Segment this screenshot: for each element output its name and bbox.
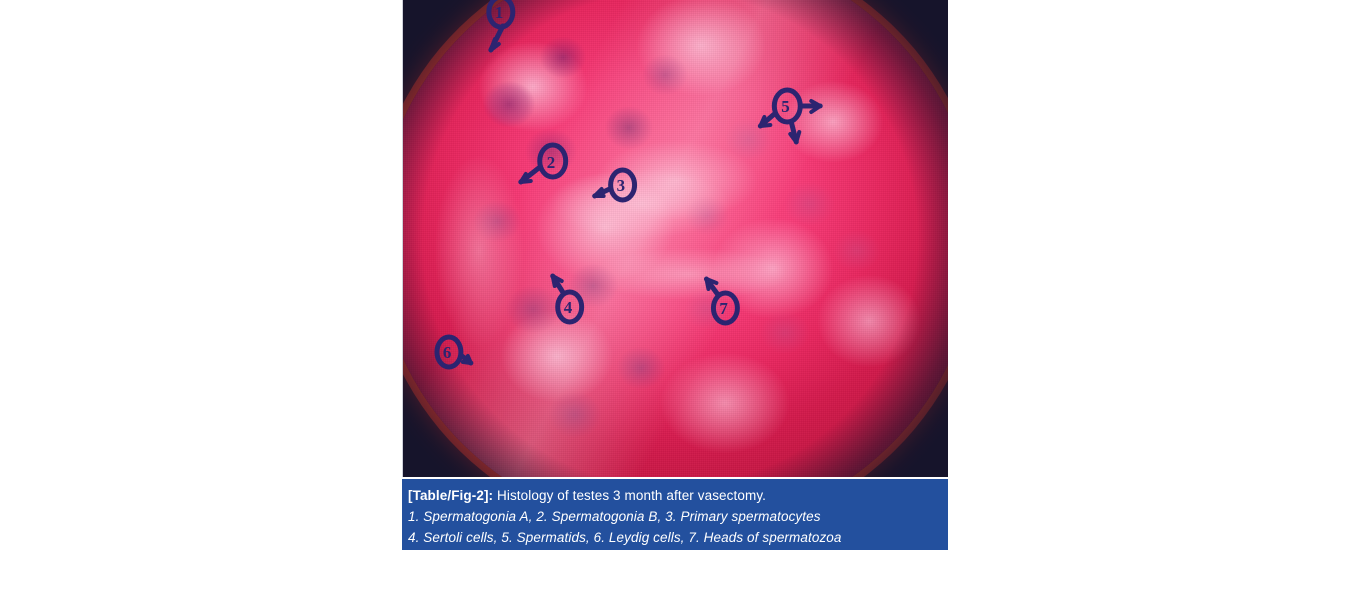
histology-micrograph: 1 2 3 (402, 0, 948, 477)
caption-title-text: Histology of testes 3 month after vasect… (493, 488, 766, 503)
tissue-film-grain (402, 0, 948, 477)
caption-tag: [Table/Fig-2]: (408, 488, 493, 503)
figure-block: 1 2 3 (402, 0, 948, 477)
caption-title-line: [Table/Fig-2]: Histology of testes 3 mon… (408, 485, 948, 506)
microscope-field-of-view (402, 0, 948, 477)
caption-legend-line-1: 1. Spermatogonia A, 2. Spermatogonia B, … (408, 506, 948, 527)
caption-legend-line-2: 4. Sertoli cells, 5. Spermatids, 6. Leyd… (408, 527, 948, 548)
page-root: 1 2 3 (0, 0, 1360, 610)
figure-caption: [Table/Fig-2]: Histology of testes 3 mon… (402, 479, 948, 550)
